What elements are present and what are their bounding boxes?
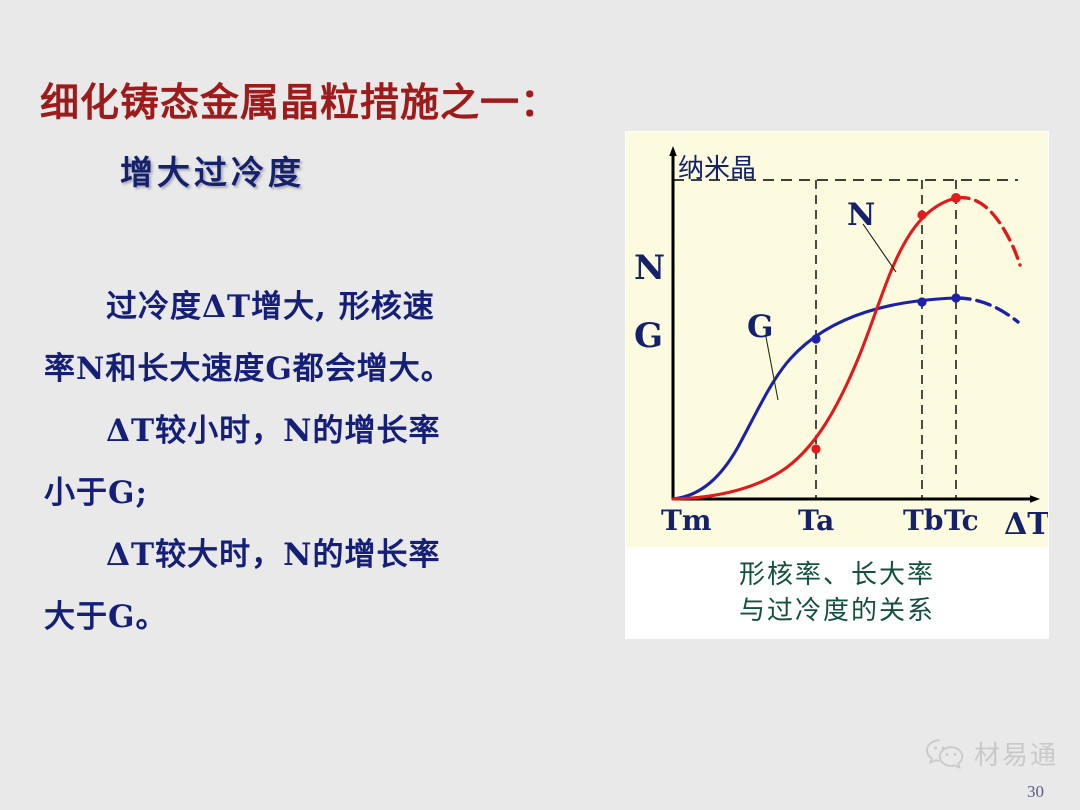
figure-caption-line-1: 形核率、长大率 — [739, 557, 935, 593]
watermark-label: 材易通 — [974, 735, 1058, 772]
y-axis-label-n: N — [634, 248, 665, 288]
marker-n-at-tc — [951, 193, 961, 203]
x-axis-label-delta-t: ΔT — [1004, 507, 1048, 542]
curve-g-dashed-tail — [956, 298, 1018, 322]
marker-g-at-tc — [951, 293, 960, 302]
y-axis-arrow-icon — [669, 146, 677, 156]
marker-g-at-tb — [917, 297, 926, 306]
marker-n-at-tb — [917, 210, 926, 219]
curve-n-dashed-tail — [956, 198, 1020, 265]
body-line-1: 过冷度ΔT增大, 形核速 — [44, 276, 589, 338]
curve-n-solid — [673, 198, 956, 499]
body-line-5: ΔT较大时，N的增长率 — [44, 524, 589, 586]
marker-n-at-ta — [811, 444, 820, 453]
slide-root: 细化铸态金属晶粒措施之一： 增大过冷度 过冷度ΔT增大, 形核速 率N和长大速度… — [0, 0, 1080, 810]
x-tick-label-ta: Ta — [798, 504, 834, 537]
slide-subtitle: 增大过冷度 — [120, 146, 305, 194]
marker-g-at-ta — [811, 334, 820, 343]
text-column: 细化铸态金属晶粒措施之一： 增大过冷度 过冷度ΔT增大, 形核速 率N和长大速度… — [0, 0, 610, 810]
chart-plot-area: 纳米晶 N G N G Tm Ta Tb Tc ΔT — [626, 132, 1048, 547]
body-line-4: 小于G; — [44, 462, 589, 524]
figure-caption-line-2: 与过冷度的关系 — [739, 593, 935, 629]
curve-g-solid — [673, 298, 956, 499]
body-line-3: ΔT较小时，N的增长率 — [44, 400, 589, 462]
x-tick-label-tc: Tc — [944, 504, 979, 537]
page-title: 细化铸态金属晶粒措施之一： — [40, 72, 560, 128]
y-axis-label-g: G — [634, 316, 663, 356]
chart-label-nanocrystal: 纳米晶 — [678, 154, 756, 184]
body-line-6: 大于G。 — [44, 586, 589, 648]
body-text-block: 过冷度ΔT增大, 形核速 率N和长大速度G都会增大。 ΔT较小时，N的增长率 小… — [44, 276, 589, 648]
x-tick-label-tm: Tm — [661, 504, 711, 537]
x-tick-label-tb: Tb — [903, 504, 943, 537]
body-line-2: 率N和长大速度G都会增大。 — [44, 338, 589, 400]
nucleation-growth-chart: 纳米晶 N G N G Tm Ta Tb Tc ΔT — [626, 132, 1048, 547]
figure-panel: 纳米晶 N G N G Tm Ta Tb Tc ΔT 形核率、长大率 与过冷度的… — [626, 132, 1048, 638]
wechat-icon — [924, 737, 966, 771]
x-axis-arrow-icon — [1030, 495, 1040, 503]
watermark: 材易通 — [924, 735, 1058, 772]
chart-curve-label-g: G — [747, 309, 773, 345]
figure-caption: 形核率、长大率 与过冷度的关系 — [626, 547, 1048, 638]
page-number: 30 — [1027, 782, 1044, 802]
chart-curve-label-n: N — [847, 197, 875, 233]
